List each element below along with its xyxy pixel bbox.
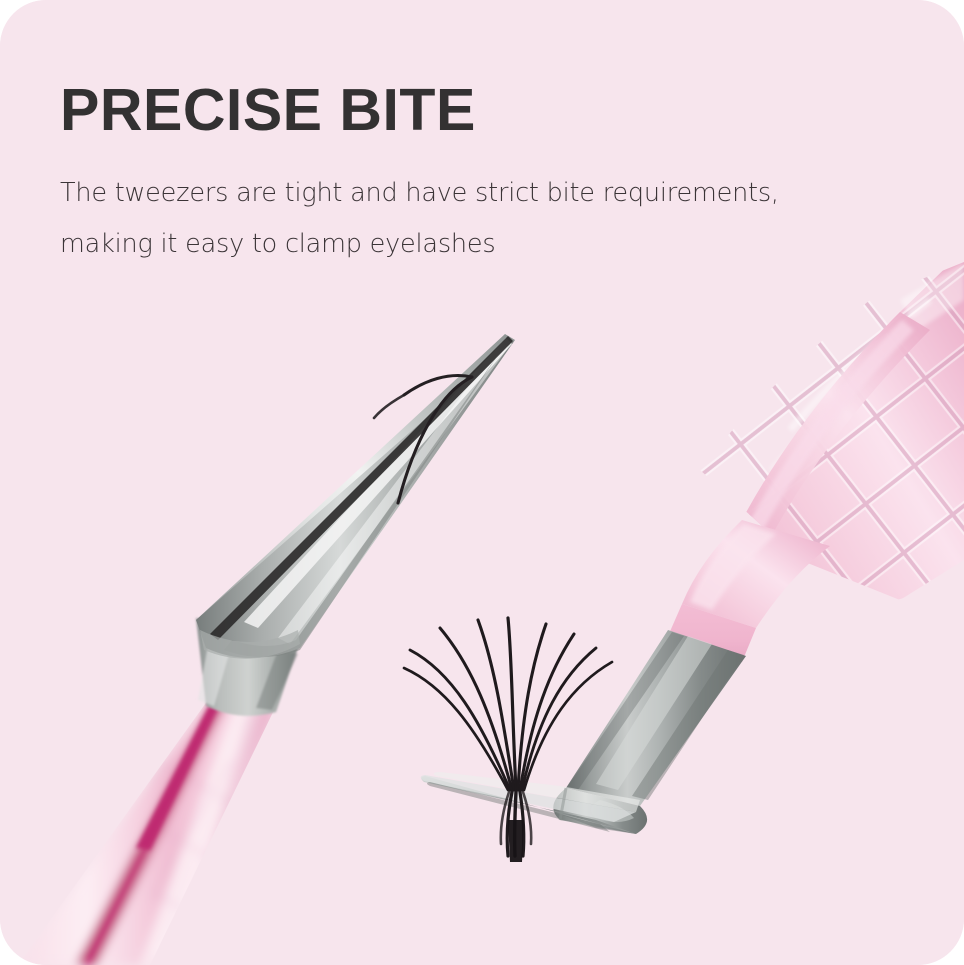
feature-description: The tweezers are tight and have strict b… <box>60 168 850 270</box>
text-block: PRECISE BITE The tweezers are tight and … <box>60 78 850 270</box>
page-title: PRECISE BITE <box>60 78 850 142</box>
description-line-2: making it easy to clamp eyelashes <box>60 219 850 270</box>
description-line-1: The tweezers are tight and have strict b… <box>60 168 850 219</box>
product-feature-poster: PRECISE BITE The tweezers are tight and … <box>0 0 964 965</box>
